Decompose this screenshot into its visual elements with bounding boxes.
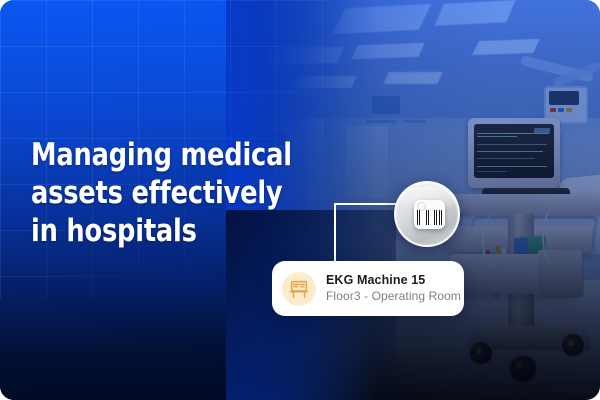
headline-line-3: in hospitals [31,212,261,250]
headline-line-2: assets effectively [31,174,261,212]
callout-connector-line [334,203,400,265]
barcode-bars [417,210,442,225]
connector-vertical-segment [334,203,336,265]
medical-equipment-icon [282,272,316,306]
asset-info-card[interactable]: EKG Machine 15 Floor3 - Operating Room [272,261,464,316]
hospital-asset-banner: Managing medical assets effectively in h… [0,0,600,400]
barcode-label-icon [414,200,445,229]
headline-line-1: Managing medical [31,136,261,174]
asset-info-text: EKG Machine 15 Floor3 - Operating Room [326,272,461,305]
asset-name: EKG Machine 15 [326,272,461,288]
label-hole [417,202,426,211]
asset-location: Floor3 - Operating Room [326,288,461,305]
connector-horizontal-segment [334,203,400,205]
page-title: Managing medical assets effectively in h… [31,136,261,250]
magnifier-lens[interactable] [394,181,460,247]
